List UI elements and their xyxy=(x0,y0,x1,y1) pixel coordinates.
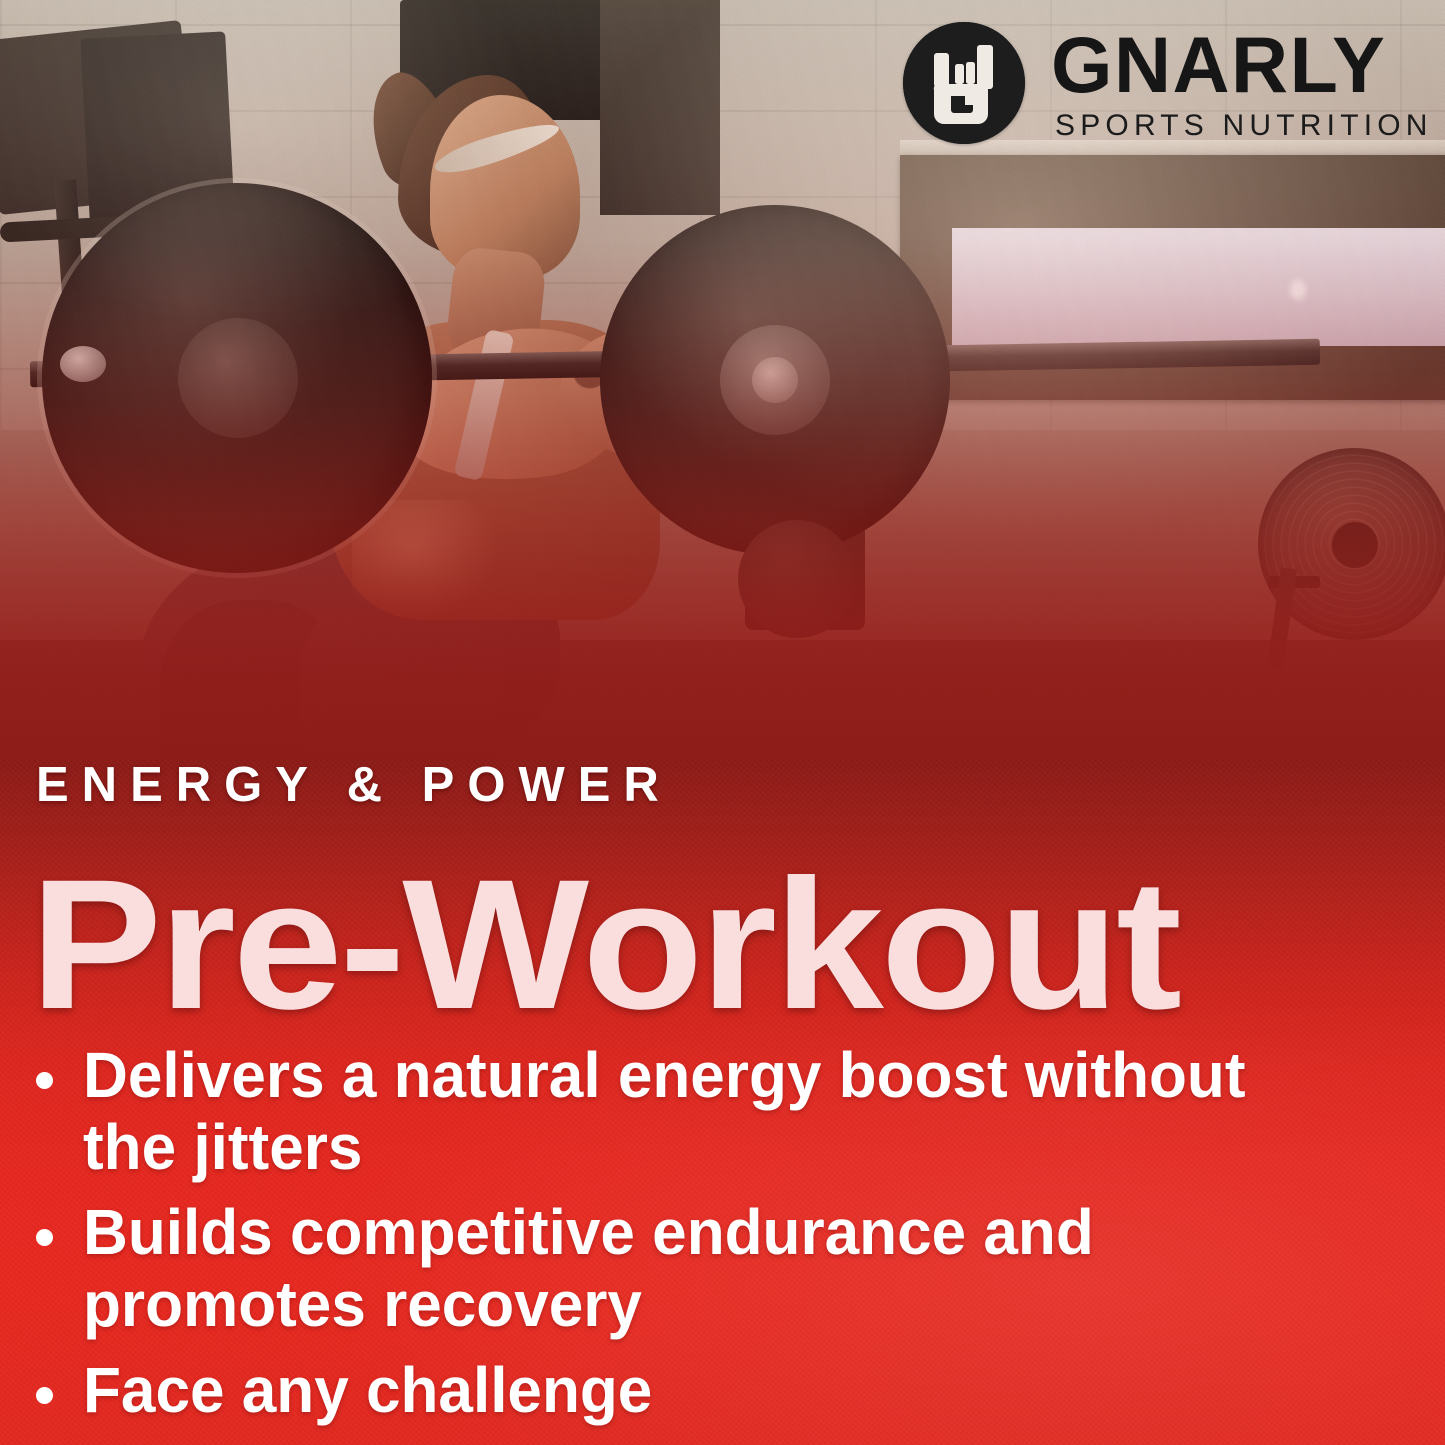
product-marketing-poster: GNARLY SPORTS NUTRITION ENERGY & POWER P… xyxy=(0,0,1445,1445)
brand-name: GNARLY xyxy=(1051,25,1433,104)
rock-on-hand-g-logo-icon xyxy=(903,22,1025,144)
bullet-dot-icon xyxy=(36,1072,53,1089)
brand-tagline: SPORTS NUTRITION xyxy=(1051,111,1433,141)
benefit-text: Builds competitive endurance and promote… xyxy=(83,1197,1328,1340)
benefit-text: Delivers a natural energy boost without … xyxy=(83,1040,1328,1183)
list-item: Delivers a natural energy boost without … xyxy=(36,1040,1366,1183)
eyebrow-text: ENERGY & POWER xyxy=(36,757,672,813)
bullet-dot-icon xyxy=(36,1387,53,1404)
benefit-text: Face any challenge xyxy=(83,1355,652,1427)
bullet-dot-icon xyxy=(36,1229,53,1246)
brand-logo[interactable]: GNARLY SPORTS NUTRITION xyxy=(903,22,1433,144)
list-item: Builds competitive endurance and promote… xyxy=(36,1197,1366,1340)
list-item: Face any challenge xyxy=(36,1355,1366,1427)
page-title: Pre-Workout xyxy=(30,853,1179,1038)
benefits-list: Delivers a natural energy boost without … xyxy=(36,1040,1366,1440)
